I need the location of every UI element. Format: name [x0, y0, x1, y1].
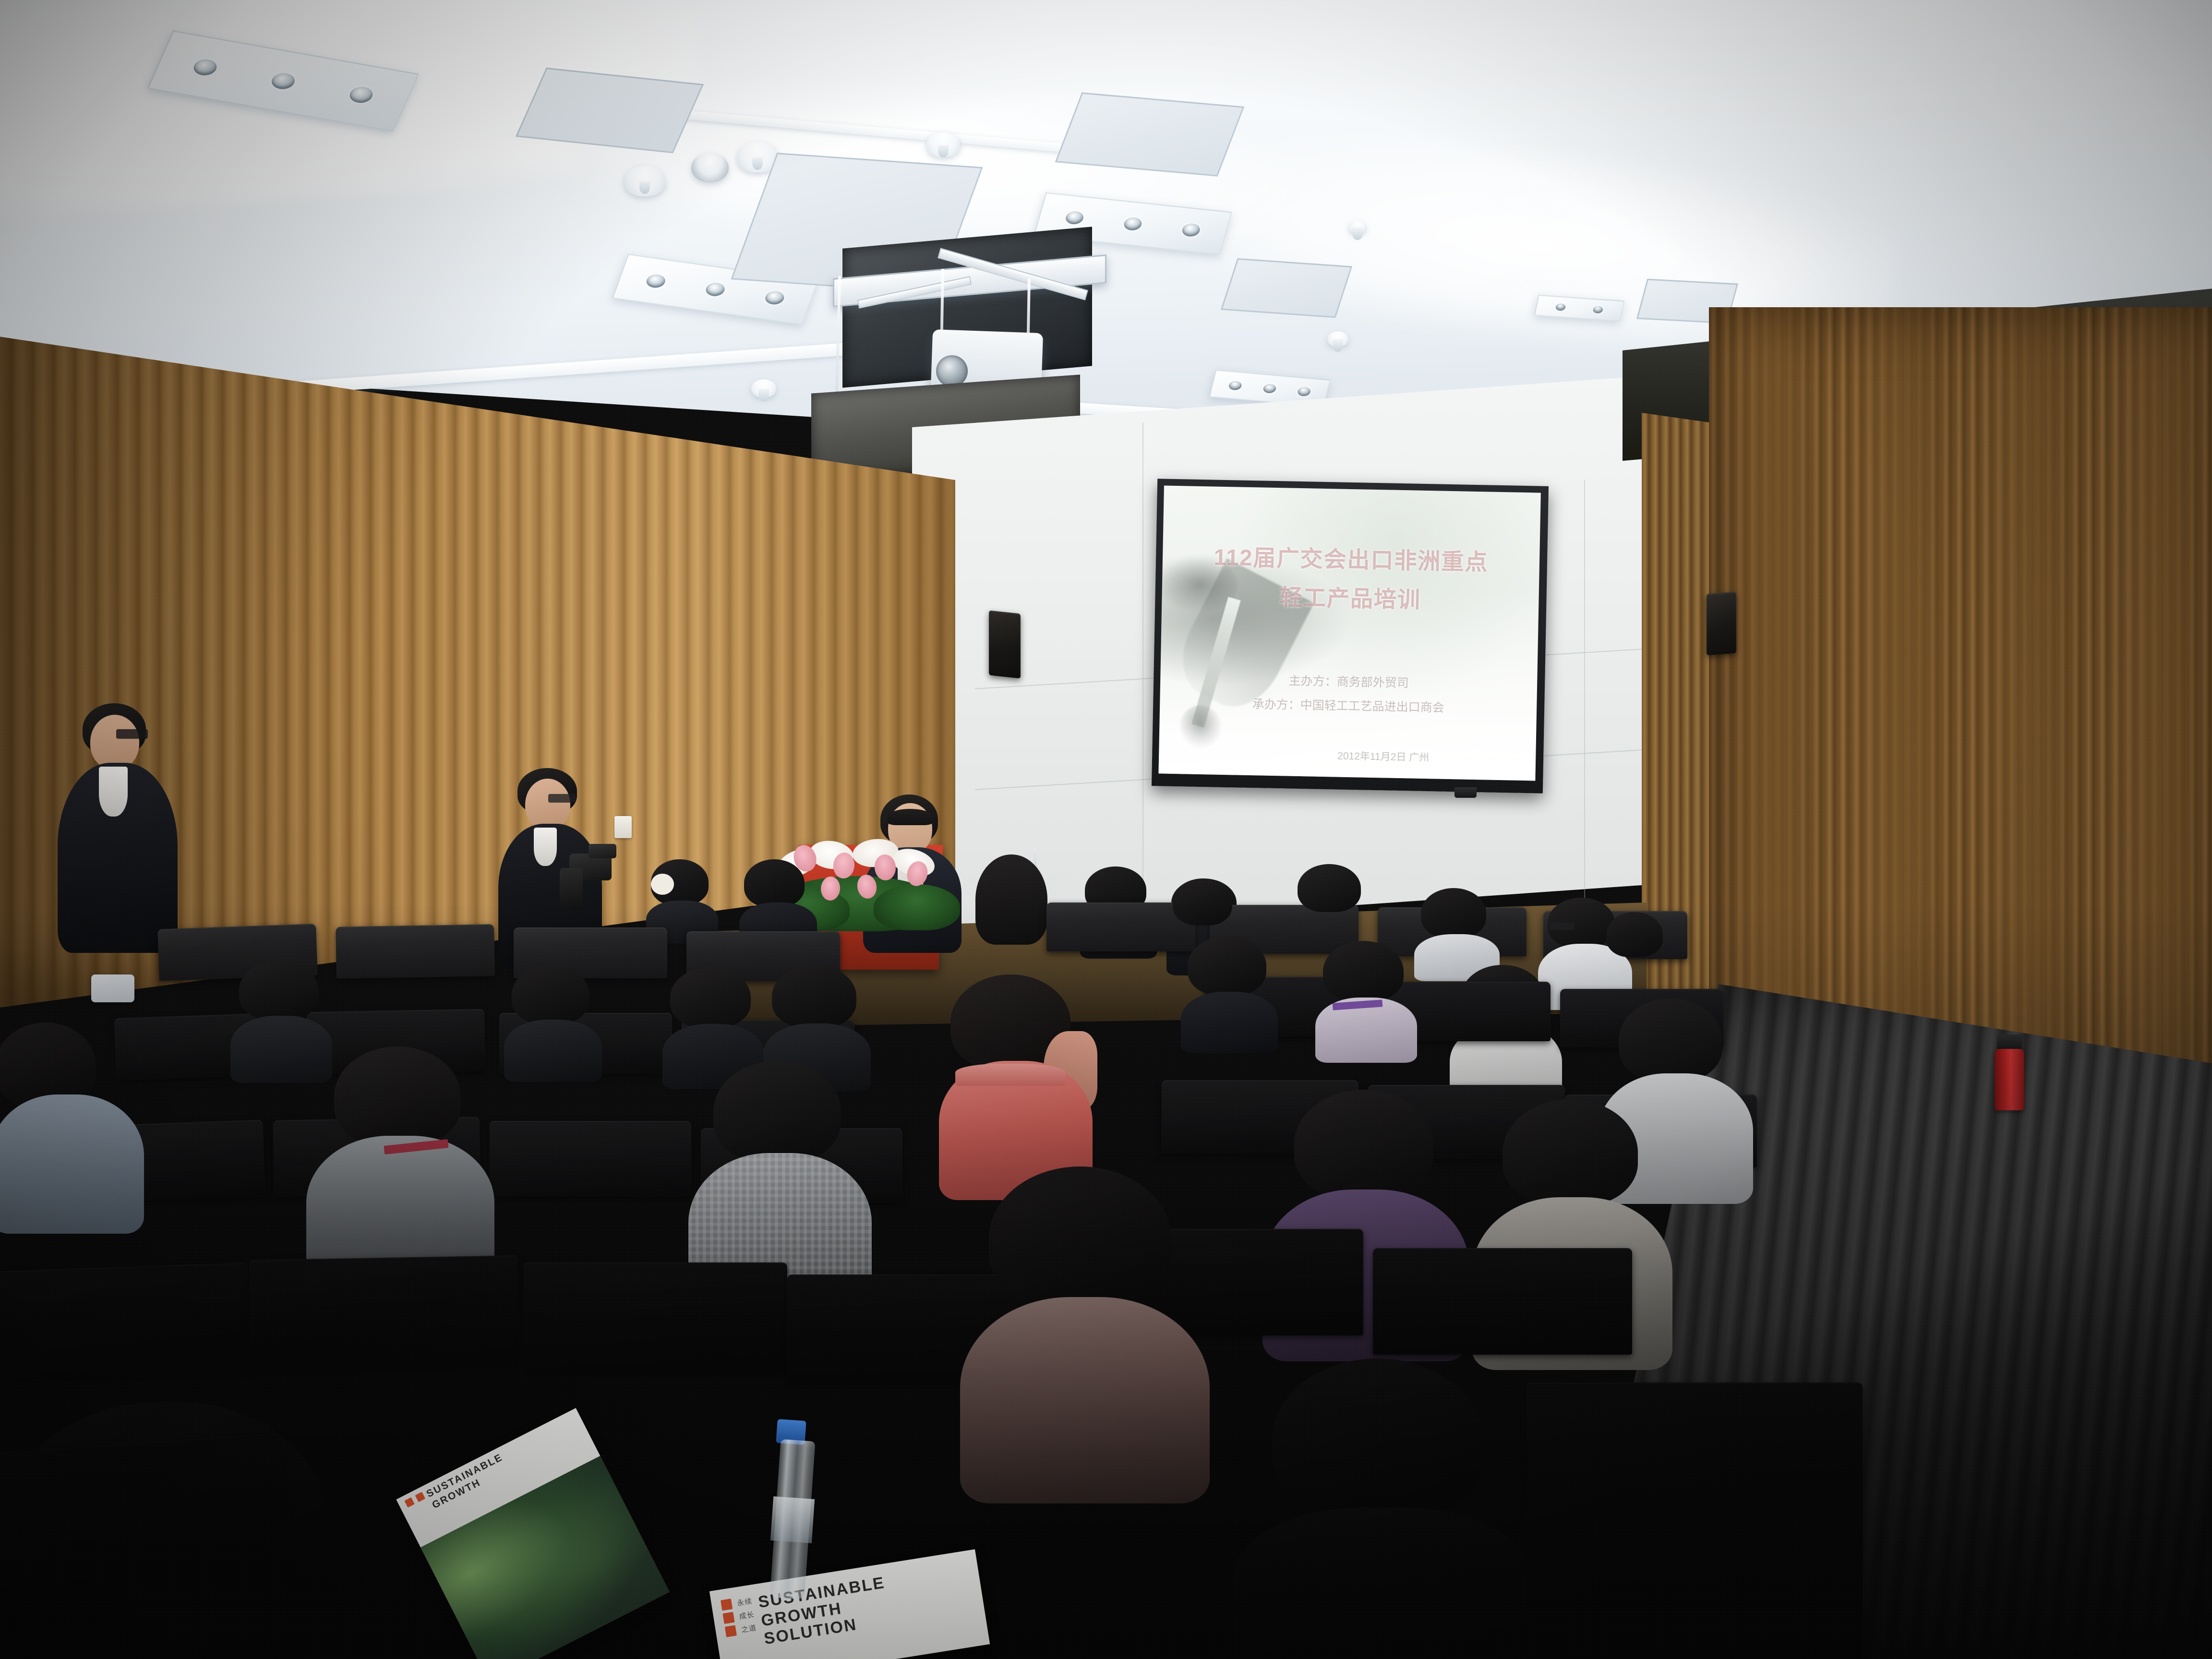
attendee-hair [1188, 936, 1266, 996]
auditorium-seat [336, 924, 495, 979]
attendee-hair [1421, 888, 1486, 938]
auditorium-seat-foreground [1373, 1248, 1632, 1355]
attendee-hair [1619, 998, 1722, 1082]
dslr-camera-hood [589, 844, 616, 858]
brochure-cn-line-1: 永续 [736, 1596, 753, 1608]
attendee-hair [334, 1046, 461, 1146]
wall-switch-plate[interactable] [614, 816, 632, 838]
attendee-foreground-center [950, 1166, 1219, 1503]
auditorium-seat-foreground [0, 1262, 252, 1382]
downlight-spot [644, 273, 667, 289]
ceiling-dome-light [691, 153, 729, 182]
attendee-hair [1294, 1090, 1433, 1199]
downlight-spot [269, 72, 298, 91]
projection-screen-bottom-bracket [1455, 787, 1477, 798]
attendee-glasses [1550, 923, 1575, 930]
mobile-phone[interactable] [91, 974, 134, 1002]
ceiling-diffuser-cone-3 [926, 132, 960, 157]
ceiling-access-hatch-3 [1055, 92, 1245, 176]
attendee-light-blue-shirt [0, 1094, 144, 1234]
downlight-spot [1064, 210, 1085, 225]
attendee-hair [670, 967, 751, 1028]
attendee-hair [989, 1166, 1171, 1310]
auditorium-seat-foreground [1527, 1382, 1863, 1659]
projection-screen-surface: 112届广交会出口非洲重点 轻工产品培训 主办方：商务部外贸司 承办方：中国轻工… [1158, 486, 1540, 781]
attendee-hair [1173, 878, 1232, 926]
attendee-hair-clip [651, 874, 674, 895]
attendee-hair [239, 960, 319, 1021]
attendee-foreground-right [1229, 1358, 1536, 1659]
attendee-torso [1181, 992, 1278, 1053]
brochure-logo-mark [415, 1492, 426, 1503]
fire-extinguisher-head [1997, 1034, 2022, 1051]
attendee-grey-shirt-left [302, 1046, 499, 1286]
ceiling-diffuser-cone-5 [1349, 221, 1366, 233]
downlight-spot [191, 58, 219, 77]
ceiling-diffuser-cone-4 [1327, 331, 1348, 347]
brochure-logo-mark [721, 1599, 733, 1611]
staff-head [90, 715, 139, 769]
photographer-shirt [534, 828, 557, 866]
downlight-spot [704, 282, 726, 297]
attendee-salmon-polo [926, 974, 1109, 1195]
attendee-row2-5 [1181, 936, 1277, 1051]
brochure-cn-line-3: 之道 [740, 1622, 757, 1635]
attendee-foreground-torso [960, 1297, 1210, 1503]
downlight-spot [1555, 303, 1566, 311]
auditorium-seat-foreground [249, 1255, 519, 1370]
downlight-spot [1181, 223, 1202, 237]
brochure-cover-photo [403, 1447, 670, 1659]
presenter-fringe [887, 809, 933, 825]
downlight-spot [763, 290, 786, 305]
brochure-logo-mark [725, 1625, 737, 1637]
photographer-head [525, 779, 570, 830]
attendee-midback-2 [1294, 864, 1370, 941]
projection-screen-frame: 112届广交会出口非洲重点 轻工产品培训 主办方：商务部外贸司 承办方：中国轻工… [1152, 479, 1549, 793]
attendee-hair [1503, 1099, 1638, 1206]
brochure-logo-mark [404, 1497, 415, 1508]
ceiling-access-hatch-4 [1221, 258, 1352, 318]
ceiling-diffuser-cone-1 [624, 166, 665, 196]
downlight-spot [1297, 386, 1311, 397]
projector-lens [936, 355, 968, 387]
attendee-purple-lanyard [1315, 941, 1416, 1061]
attendee-hair [772, 965, 856, 1028]
downlight-spot [1262, 384, 1277, 394]
ceiling-diffuser-cone-6 [751, 379, 776, 397]
brochure-cn-line-2: 成长 [738, 1609, 755, 1622]
attendee-hair [1323, 941, 1404, 1001]
downlight-spot [347, 85, 376, 105]
flower-foliage-3 [874, 884, 960, 930]
attendee-midback-4 [1603, 912, 1671, 984]
wall-mounted-loudspeaker-left [989, 611, 1021, 679]
brochure-flat[interactable]: 永续 成长 之道 SUSTAINABLE GROWTH SOLUTION [709, 1549, 990, 1659]
conference-hall-photo: 112届广交会出口非洲重点 轻工产品培训 主办方：商务部外贸司 承办方：中国轻工… [0, 0, 2212, 1659]
brochure-tilted[interactable]: SUSTAINABLE GROWTH [396, 1408, 669, 1659]
front-wall-tile-seam-3 [1142, 422, 1143, 917]
attendee-hair [512, 965, 589, 1024]
attendee-collar [955, 1064, 1066, 1086]
attendee-long-hair [975, 854, 1047, 945]
auditorium-seat [490, 1121, 691, 1197]
attendee-hair [713, 1061, 841, 1163]
downlight-spot [1228, 380, 1243, 390]
attendee-hair [744, 859, 805, 907]
auditorium-seat-foreground [0, 1433, 295, 1659]
downlight-spot [1122, 216, 1143, 231]
attendee-row2-2 [504, 965, 600, 1080]
attendee-front-red-seat [970, 854, 1056, 984]
attendee-hair [1298, 864, 1361, 912]
wall-mounted-loudspeaker-right [1707, 592, 1736, 655]
attendee-torso [504, 1020, 602, 1082]
auditorium-seat-foreground [523, 1262, 787, 1372]
water-bottle-label [770, 1496, 815, 1543]
attendee-hair [1606, 912, 1663, 957]
staff-shirt [99, 767, 128, 817]
attendee-foreground-torso [1234, 1507, 1531, 1659]
dslr-camera-lens [560, 868, 583, 910]
standing-staff-left [58, 703, 182, 953]
fire-extinguisher[interactable] [1995, 1049, 2024, 1110]
photographer-glasses [548, 794, 576, 803]
brochure-logo-mark [722, 1612, 734, 1624]
staff-glasses [116, 729, 148, 739]
front-wall-tile-seam-4 [1584, 480, 1585, 926]
attendee-light-blue-left [0, 1022, 158, 1229]
attendee-hair [1272, 1358, 1483, 1522]
downlight-spot [1592, 306, 1603, 313]
